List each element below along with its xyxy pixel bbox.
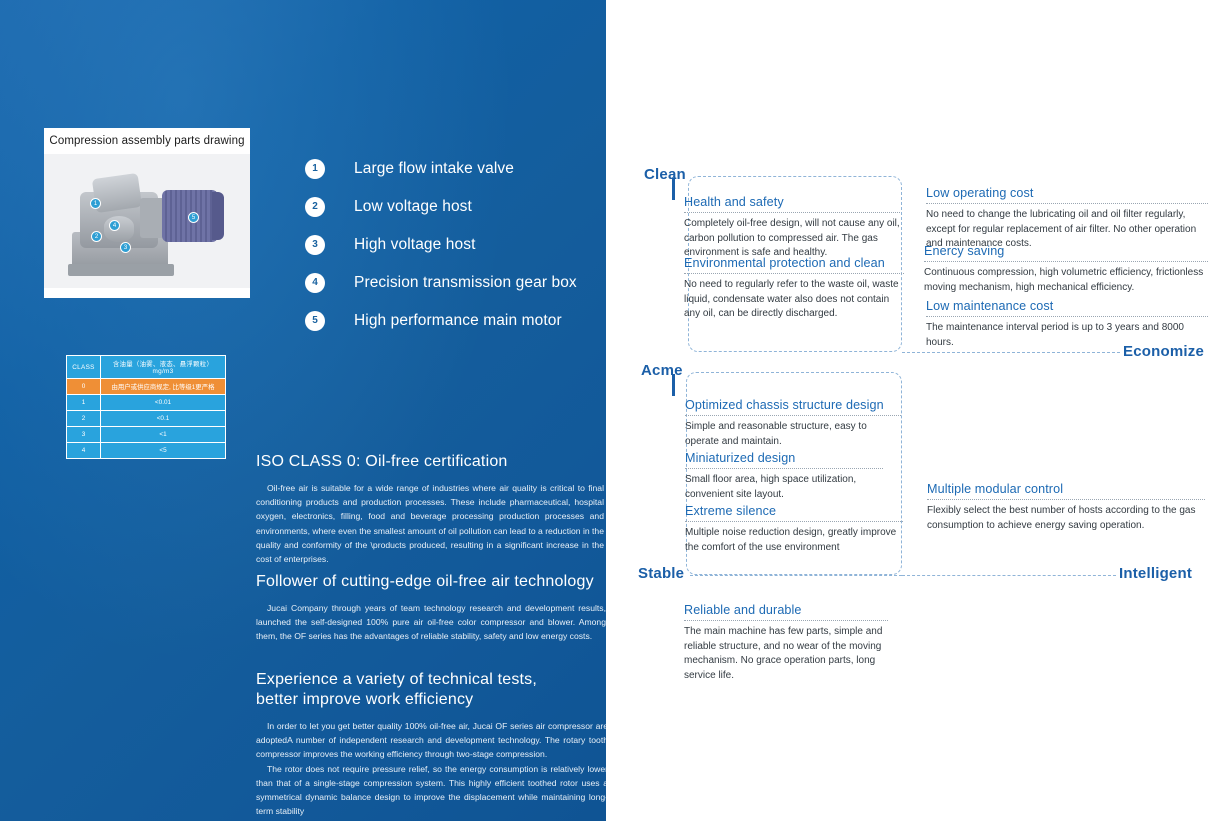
feature-body: No need to regularly refer to the waste … (684, 278, 904, 322)
table-cell-class: 2 (67, 411, 101, 427)
feature-body: Simple and reasonable structure, easy to… (685, 420, 901, 449)
table-cell-class: 3 (67, 427, 101, 443)
marker-5-icon: 5 (188, 212, 199, 223)
photo-card: Compression assembly parts drawing 1 2 3… (44, 128, 250, 298)
list-item-label: Low voltage host (354, 198, 472, 216)
feature-title: Enercy saving (924, 243, 1209, 259)
machine-foot (68, 264, 174, 276)
machine-motor-cap (212, 192, 224, 240)
title-rule (685, 415, 901, 416)
feature-energy-saving: Enercy saving Continuous compression, hi… (924, 243, 1209, 295)
title-rule (926, 316, 1208, 317)
list-number-badge: 5 (305, 311, 325, 331)
marker-1-icon: 1 (90, 198, 101, 209)
title-rule (927, 499, 1205, 500)
feature-health-and-safety: Health and safety Completely oil-free de… (684, 194, 900, 261)
feature-optimized-chassis: Optimized chassis structure design Simpl… (685, 397, 901, 449)
table-row: 0 由用户或供应商规定, 比等级1更严格 (67, 379, 226, 395)
title-rule (684, 273, 904, 274)
table-cell-value: <1 (101, 427, 226, 443)
table-header-row: CLASS 含油量（油雾、液态、悬浮颗粒）mg/m3 (67, 356, 226, 379)
table-row: 4 <5 (67, 443, 226, 459)
left-blue-panel: Compression assembly parts drawing 1 2 3… (0, 0, 606, 821)
list-item-label: Large flow intake valve (354, 160, 514, 178)
technical-tests-body-2: The rotor does not require pressure reli… (256, 762, 606, 819)
iso-class-0-title: ISO CLASS 0: Oil-free certification (256, 452, 604, 472)
list-item: 4 Precision transmission gear box (305, 264, 600, 302)
feature-body: The maintenance interval period is up to… (926, 321, 1208, 350)
feature-title: Low maintenance cost (926, 298, 1208, 314)
machine-low-voltage-host (104, 216, 134, 242)
title-rule (684, 212, 900, 213)
technical-tests-block: Experience a variety of technical tests,… (256, 670, 606, 818)
feature-title: Multiple modular control (927, 481, 1205, 497)
section-label-stable: Stable (638, 565, 684, 582)
parts-numbered-list: 1 Large flow intake valve 2 Low voltage … (305, 150, 600, 340)
list-number-badge: 4 (305, 273, 325, 293)
list-number-badge: 2 (305, 197, 325, 217)
technical-tests-title: Experience a variety of technical tests,… (256, 670, 606, 710)
stable-dashed-line (690, 575, 902, 576)
feature-title: Health and safety (684, 194, 900, 210)
list-item: 5 High performance main motor (305, 302, 600, 340)
feature-title: Extreme silence (685, 503, 903, 519)
page-root: Compression assembly parts drawing 1 2 3… (0, 0, 1209, 821)
title-rule (684, 620, 888, 621)
feature-body: Flexibly select the best number of hosts… (927, 504, 1205, 533)
title-rule (685, 521, 903, 522)
list-number-badge: 3 (305, 235, 325, 255)
table-cell-value: 由用户或供应商规定, 比等级1更严格 (101, 379, 226, 395)
feature-title: Optimized chassis structure design (685, 397, 901, 413)
list-item-label: High voltage host (354, 236, 475, 254)
feature-miniaturized-design: Miniaturized design Small floor area, hi… (685, 450, 883, 502)
feature-body: Small floor area, high space utilization… (685, 473, 883, 502)
feature-body: The main machine has few parts, simple a… (684, 625, 888, 683)
technical-tests-body-1: In order to let you get better quality 1… (256, 719, 606, 762)
iso-class-0-block: ISO CLASS 0: Oil-free certification Oil-… (256, 452, 604, 566)
table-header-oil-content: 含油量（油雾、液态、悬浮颗粒）mg/m3 (101, 356, 226, 379)
table-cell-class: 4 (67, 443, 101, 459)
photo-caption: Compression assembly parts drawing (44, 135, 250, 147)
feature-multiple-modular-control: Multiple modular control Flexibly select… (927, 481, 1205, 533)
title-rule (685, 468, 883, 469)
title-rule (924, 261, 1209, 262)
feature-reliable-and-durable: Reliable and durable The main machine ha… (684, 602, 888, 683)
title-rule (926, 203, 1208, 204)
table-row: 1 <0.01 (67, 395, 226, 411)
list-item: 3 High voltage host (305, 226, 600, 264)
table-row: 3 <1 (67, 427, 226, 443)
iso-class-0-body: Oil-free air is suitable for a wide rang… (256, 481, 604, 566)
section-label-intelligent: Intelligent (1119, 565, 1192, 582)
list-item-label: Precision transmission gear box (354, 274, 577, 292)
economize-dashed-line (902, 352, 1120, 353)
table-cell-class: 1 (67, 395, 101, 411)
feature-body: Continuous compression, high volumetric … (924, 266, 1209, 295)
feature-low-operating-cost: Low operating cost No need to change the… (926, 185, 1208, 252)
list-item: 1 Large flow intake valve (305, 150, 600, 188)
marker-4-icon: 4 (109, 220, 120, 231)
intelligent-dashed-line (902, 575, 1116, 576)
list-number-badge: 1 (305, 159, 325, 179)
feature-extreme-silence: Extreme silence Multiple noise reduction… (685, 503, 903, 555)
list-item: 2 Low voltage host (305, 188, 600, 226)
table-row: 2 <0.1 (67, 411, 226, 427)
list-item-label: High performance main motor (354, 312, 562, 330)
marker-3-icon: 3 (120, 242, 131, 253)
feature-title: Reliable and durable (684, 602, 888, 618)
table-cell-value: <0.1 (101, 411, 226, 427)
iso-class-table: CLASS 含油量（油雾、液态、悬浮颗粒）mg/m3 0 由用户或供应商规定, … (66, 355, 226, 459)
section-label-acme: Acme (641, 362, 683, 379)
table-header-class: CLASS (67, 356, 101, 379)
machine-illustration: 1 2 3 4 5 (44, 154, 250, 288)
cutting-edge-body: Jucai Company through years of team tech… (256, 601, 606, 644)
feature-title: Miniaturized design (685, 450, 883, 466)
cutting-edge-block: Follower of cutting-edge oil-free air te… (256, 572, 606, 644)
feature-low-maintenance-cost: Low maintenance cost The maintenance int… (926, 298, 1208, 350)
feature-title: Environmental protection and clean (684, 255, 904, 271)
table-cell-value: <0.01 (101, 395, 226, 411)
feature-body: Multiple noise reduction design, greatly… (685, 526, 903, 555)
cutting-edge-title: Follower of cutting-edge oil-free air te… (256, 572, 606, 592)
section-label-clean: Clean (644, 166, 686, 183)
feature-environmental-protection: Environmental protection and clean No ne… (684, 255, 904, 322)
table-cell-class: 0 (67, 379, 101, 395)
feature-title: Low operating cost (926, 185, 1208, 201)
marker-2-icon: 2 (91, 231, 102, 242)
table-cell-value: <5 (101, 443, 226, 459)
